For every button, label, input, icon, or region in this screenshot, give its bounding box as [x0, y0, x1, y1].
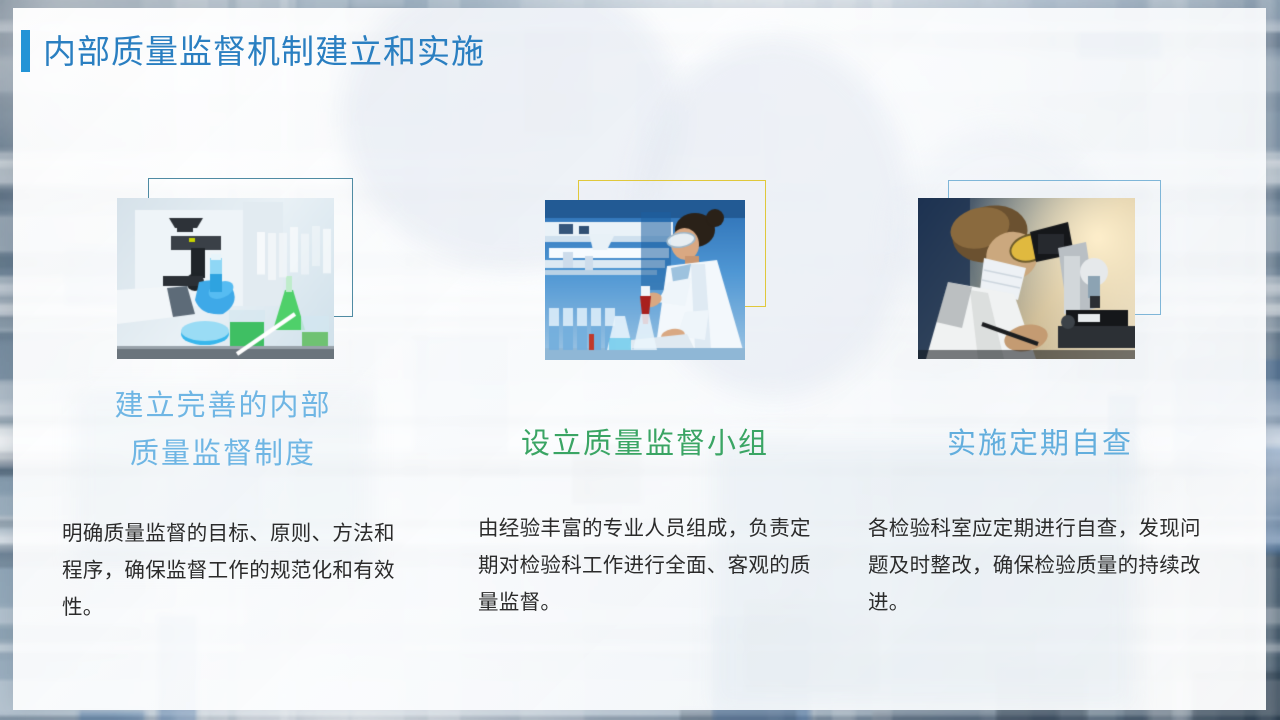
- card-heading-2: 设立质量监督小组: [470, 419, 820, 467]
- card-heading-3: 实施定期自查: [880, 419, 1200, 467]
- slide-title: 内部质量监督机制建立和实施: [21, 30, 485, 72]
- card-body-2: 由经验丰富的专业人员组成，负责定期对检验科工作进行全面、客观的质量监督。: [478, 510, 828, 621]
- page-title: 内部质量监督机制建立和实施: [43, 35, 485, 68]
- slide: 内部质量监督机制建立和实施 建立完善的内部 质量监督制度 明确质量监督的目标、原…: [0, 0, 1280, 720]
- card-image-2: [545, 200, 745, 360]
- title-accent-bar: [21, 30, 30, 72]
- card-body-1: 明确质量监督的目标、原则、方法和程序，确保监督工作的规范化和有效性。: [62, 515, 407, 626]
- card-heading-1: 建立完善的内部 质量监督制度: [58, 381, 388, 477]
- card-body-3: 各检验科室应定期进行自查，发现问题及时整改，确保检验质量的持续改进。: [868, 510, 1218, 621]
- card-image-1: [117, 198, 334, 359]
- card-image-3: [918, 198, 1135, 359]
